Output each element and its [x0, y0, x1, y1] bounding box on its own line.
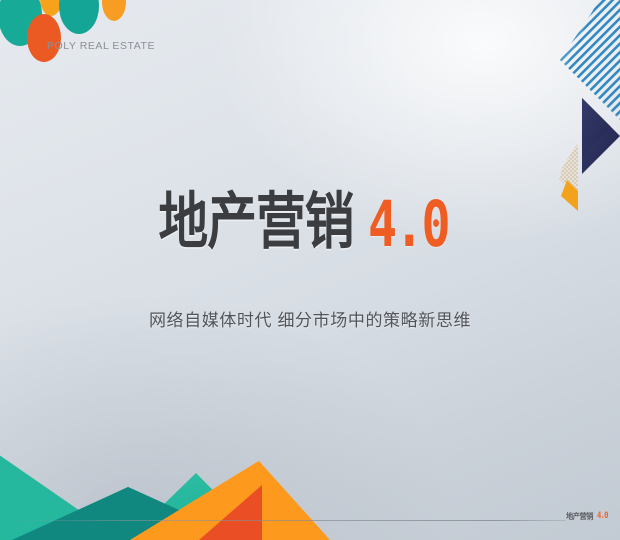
- bottom-left-red-peak-overlay: [0, 0, 620, 540]
- slide-canvas: POLY REAL ESTATE 地产营销 4.0 网络自媒体时代 细分市场中的…: [0, 0, 620, 540]
- red-orange-peak-edge: [214, 487, 262, 540]
- orange-peak-right: [236, 461, 259, 540]
- teal-ellipse-mid: [59, 0, 99, 34]
- footer-watermark-logo: 地产营销 4.0: [566, 512, 610, 521]
- cream-textured-chevron: [559, 144, 578, 197]
- title-block: 地产营销 4.0: [0, 196, 620, 253]
- teal-light-peak-mid: [88, 497, 172, 540]
- watermark-title: 地产营销: [566, 513, 593, 521]
- brand-name-label: POLY REAL ESTATE: [47, 40, 155, 52]
- teal-dark-peak-front: [12, 487, 245, 540]
- bottom-left-decoration-group: [0, 455, 324, 540]
- brand-logo[interactable]: POLY REAL ESTATE: [0, 0, 190, 78]
- orange-ellipse-small: [40, 0, 62, 16]
- poly-ellipse-cluster-icon: [0, 0, 130, 74]
- page-subtitle: 网络自媒体时代 细分市场中的策略新思维: [0, 306, 620, 331]
- red-orange-peak: [199, 485, 262, 540]
- top-right-decoration-group: [0, 0, 620, 540]
- red-ellipse-front: [27, 14, 61, 62]
- teal-light-peak-left: [0, 452, 122, 540]
- red-orange-peak-body: [218, 497, 262, 540]
- orange-ellipse-right: [102, 0, 126, 21]
- teal-light-peak: [0, 455, 95, 540]
- footer-divider: [0, 520, 566, 521]
- watermark-version: 4.0: [597, 512, 608, 521]
- page-title: 地产营销: [158, 191, 353, 253]
- bottom-left-peaks-overlay: [0, 0, 620, 540]
- blue-striped-triangle: [560, 0, 620, 120]
- orange-peak-body: [130, 461, 259, 540]
- teal-dark-peak: [30, 490, 232, 540]
- navy-triangle: [582, 98, 620, 174]
- title-row: 地产营销 4.0: [150, 196, 471, 253]
- orange-valley-right: [188, 461, 330, 540]
- title-version-badge: 4.0: [368, 195, 448, 253]
